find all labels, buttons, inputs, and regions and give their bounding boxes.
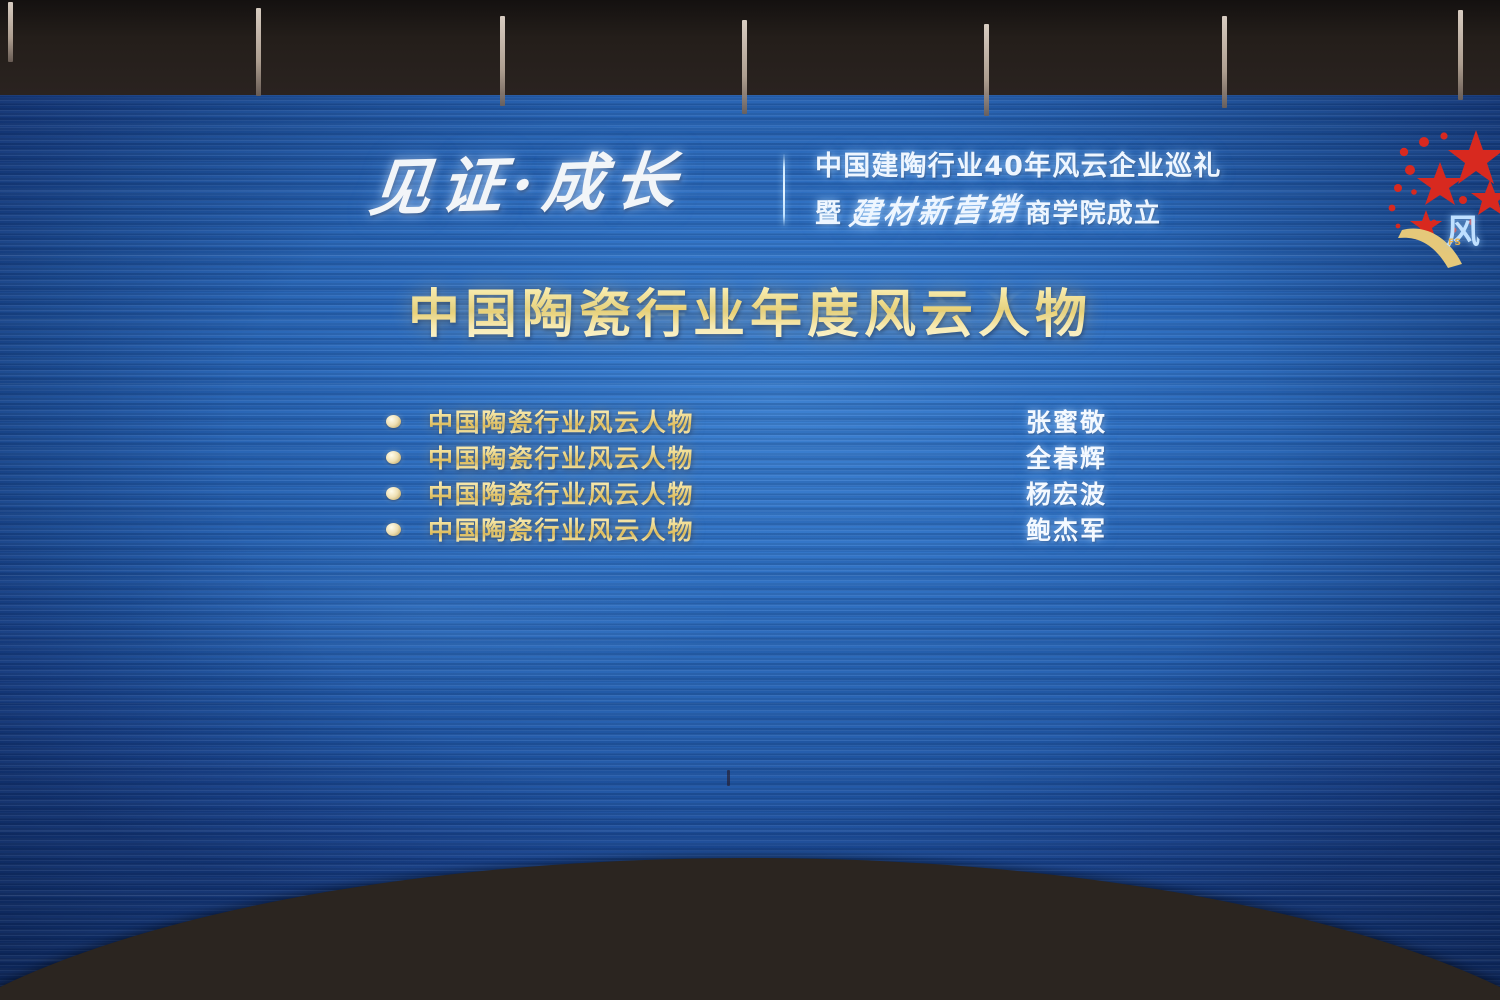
bullet-dot-icon: [386, 487, 401, 500]
award-recipient-name: 全春辉: [1026, 442, 1107, 476]
header-line-2-suffix: 商学院成立: [1025, 199, 1161, 229]
truss-rod: [742, 20, 747, 114]
list-item: 中国陶瓷行业风云人物 鲍杰军: [386, 514, 1186, 548]
bullet-dot-icon: [386, 523, 401, 536]
award-title: 中国陶瓷行业风云人物: [428, 478, 694, 512]
hall-ceiling: [0, 0, 1500, 95]
truss-rod: [984, 24, 989, 116]
award-title: 中国陶瓷行业风云人物: [428, 406, 694, 440]
slide-main-title-reflection: 中国陶瓷行业年度风云人物: [0, 281, 1500, 328]
stage-screen-photo: 见证·成长 中国建陶行业40年风云企业巡礼 暨建材新营销商学院成立 中国陶瓷行业…: [0, 0, 1500, 1000]
bullet-dot-icon: [386, 451, 401, 464]
award-title: 中国陶瓷行业风云人物: [428, 514, 694, 548]
logo-subtext: FS: [1448, 238, 1461, 248]
screen-dead-pixel-mark: [727, 770, 730, 786]
header-line-2: 暨建材新营销商学院成立: [815, 186, 1161, 231]
truss-rod: [256, 8, 261, 96]
award-list: 中国陶瓷行业风云人物 张蜜敬 中国陶瓷行业风云人物 全春辉 中国陶瓷行业风云人物…: [386, 406, 1186, 550]
award-recipient-name: 张蜜敬: [1026, 406, 1107, 440]
led-screen: 见证·成长 中国建陶行业40年风云企业巡礼 暨建材新营销商学院成立 中国陶瓷行业…: [0, 0, 1500, 1000]
star-burst-logo: 风 FS: [1368, 118, 1500, 268]
header-line-1: 中国建陶行业40年风云企业巡礼: [815, 144, 1222, 183]
bullet-dot-icon: [386, 415, 401, 428]
list-item: 中国陶瓷行业风云人物 杨宏波: [386, 478, 1186, 512]
award-title: 中国陶瓷行业风云人物: [428, 442, 694, 476]
event-header-lockup: 见证·成长 中国建陶行业40年风云企业巡礼 暨建材新营销商学院成立: [370, 138, 1250, 238]
slide-content: 见证·成长 中国建陶行业40年风云企业巡礼 暨建材新营销商学院成立 中国陶瓷行业…: [0, 0, 1500, 1000]
award-recipient-name: 鲍杰军: [1026, 514, 1107, 548]
truss-rod: [1458, 10, 1463, 100]
brush-calligraphy-title: 见证·成长: [365, 129, 771, 239]
truss-rod: [1222, 16, 1227, 108]
list-item: 中国陶瓷行业风云人物 张蜜敬: [386, 406, 1186, 440]
truss-rod: [8, 2, 13, 62]
header-line-2-prefix: 暨: [815, 199, 842, 229]
award-recipient-name: 杨宏波: [1026, 478, 1107, 512]
truss-rod: [500, 16, 505, 106]
header-line-2-calligraphy: 建材新营销: [847, 184, 1023, 234]
header-separator-rule: [783, 154, 785, 226]
list-item: 中国陶瓷行业风云人物 全春辉: [386, 442, 1186, 476]
star-burst-icon: [1368, 118, 1500, 268]
